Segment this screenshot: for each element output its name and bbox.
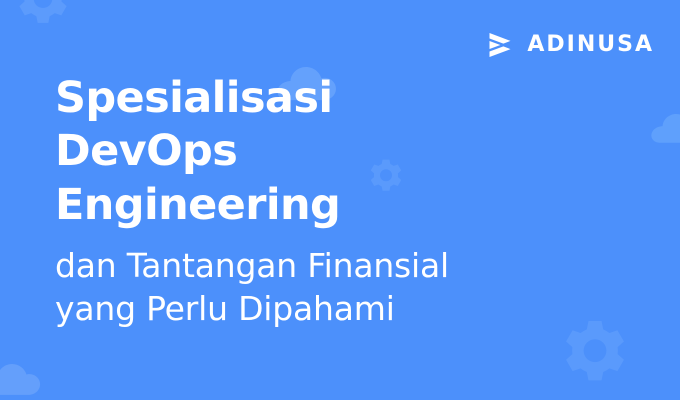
adinusa-arrow-logo-icon [485, 30, 515, 60]
brand-name: ADINUSA [527, 34, 654, 56]
headline: Spesialisasi DevOps Engineering [55, 72, 615, 232]
gear-top-left-icon [12, 0, 74, 34]
cloud-bottom-left-icon [0, 360, 42, 396]
subheadline-line-2: yang Perlu Dipahami [55, 287, 615, 331]
copy-block: Spesialisasi DevOps Engineering dan Tant… [55, 72, 615, 331]
headline-line-1: Spesialisasi [55, 72, 615, 125]
subheadline: dan Tantangan Finansial yang Perlu Dipah… [55, 244, 615, 331]
subheadline-line-1: dan Tantangan Finansial [55, 244, 615, 288]
promo-banner: ADINUSA Spesialisasi DevOps Engineering … [0, 0, 680, 400]
cloud-top-right-icon [650, 110, 680, 144]
headline-line-3: Engineering [55, 179, 615, 232]
headline-line-2: DevOps [55, 125, 615, 178]
brand-lockup: ADINUSA [485, 30, 654, 60]
